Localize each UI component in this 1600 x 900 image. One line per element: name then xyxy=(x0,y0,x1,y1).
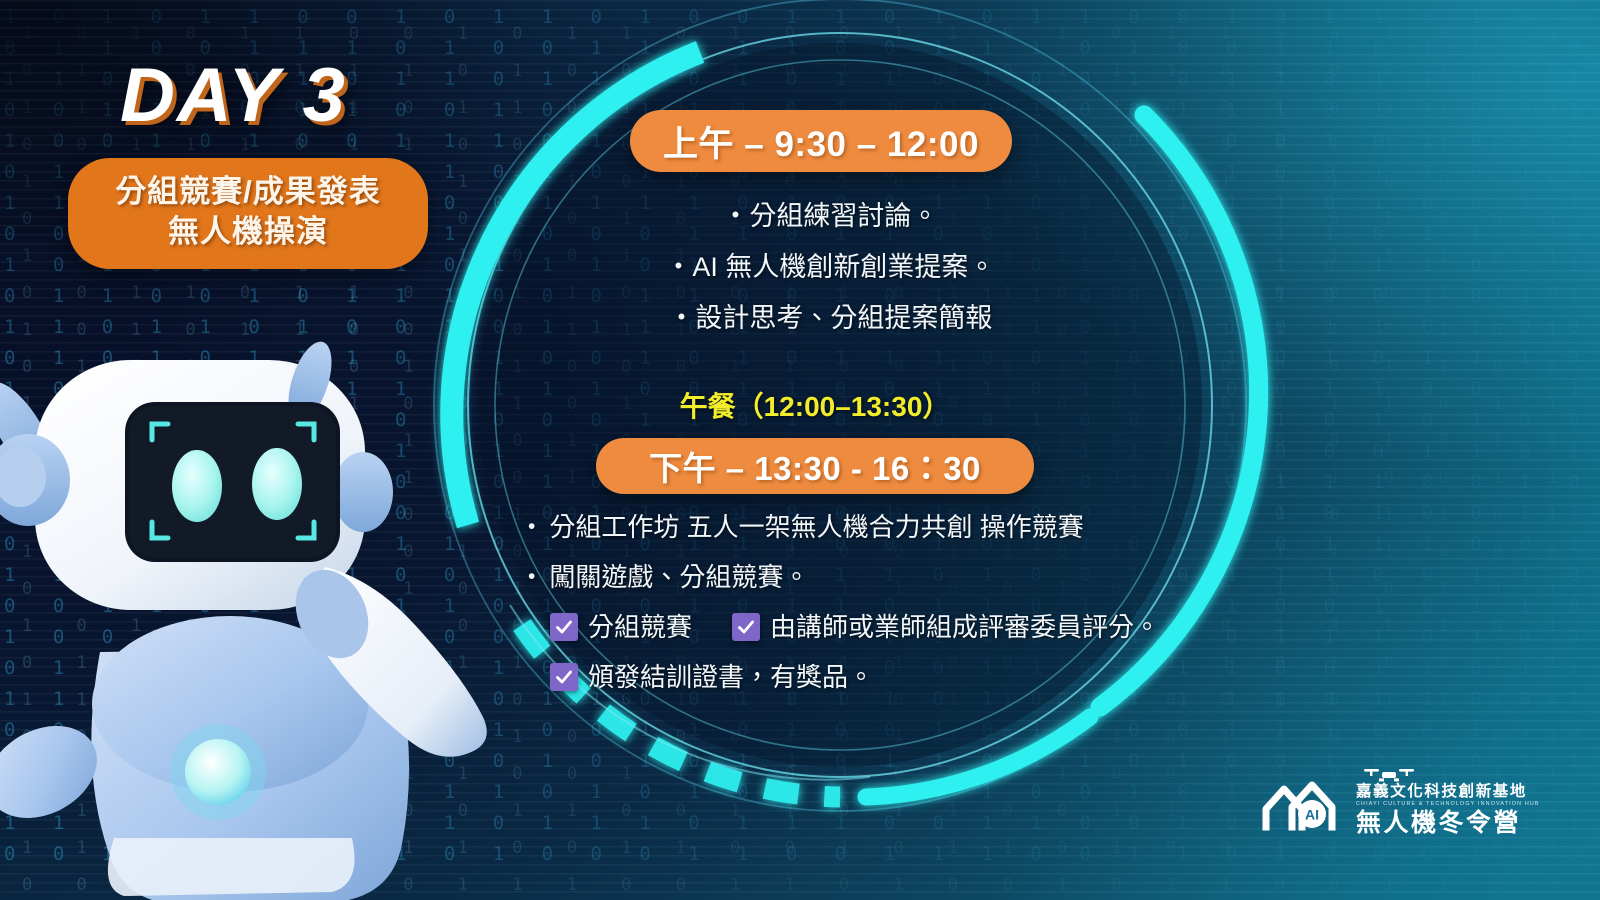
checkbox-row-1: 分組競賽 由講師或業師組成評審委員評分。 xyxy=(528,602,1168,652)
list-item-label: 分組工作坊 五人一架無人機合力共創 操作競賽 xyxy=(549,502,1083,552)
bullet-glyph: • xyxy=(528,502,535,552)
house-roof-logo-icon: AI xyxy=(1262,769,1346,835)
checkbox-checked-icon[interactable] xyxy=(550,663,578,691)
bullet-glyph: • xyxy=(675,253,683,278)
logo-english-line: CHIAYI CULTURE & TECHNOLOGY INNOVATION H… xyxy=(1356,800,1540,808)
topic-badge-line1: 分組競賽/成果發表 xyxy=(84,172,412,212)
list-item: •分組工作坊 五人一架無人機合力共創 操作競賽 xyxy=(528,502,1168,552)
morning-bullet-list: •分組練習討論。 •AI 無人機創新創業提案。 •設計思考、分組提案簡報 xyxy=(600,190,1070,343)
page-title: DAY 3 xyxy=(120,52,347,139)
afternoon-time-badge: 下午 – 13:30 - 16：30 xyxy=(596,438,1034,494)
topic-badge: 分組競賽/成果發表 無人機操演 xyxy=(68,158,428,269)
list-item: •設計思考、分組提案簡報 xyxy=(600,292,1070,343)
bullet-glyph: • xyxy=(678,304,686,329)
checkbox-row-2: 頒發結訓證書，有獎品。 xyxy=(528,652,1168,702)
organization-logo: AI 嘉義文化科技創新基地 CHIAYI CULTURE & TECHNOLOG… xyxy=(1262,752,1562,852)
topic-badge-line2: 無人機操演 xyxy=(84,212,412,252)
checkbox-label: 頒發結訓證書，有獎品。 xyxy=(588,652,874,702)
logo-text-block: 嘉義文化科技創新基地 CHIAYI CULTURE & TECHNOLOGY I… xyxy=(1356,766,1540,839)
list-item-label: 分組練習討論。 xyxy=(749,201,938,231)
checkbox-label: 由講師或業師組成評審委員評分。 xyxy=(770,602,1160,652)
slide-canvas: 1 0 1 0 1 1 0 0 1 0 1 1 0 1 0 0 1 1 0 1 … xyxy=(0,0,1600,900)
bullet-glyph: • xyxy=(528,552,535,602)
afternoon-time-label: 下午 – 13:30 - 16：30 xyxy=(649,442,981,490)
morning-time-label: 上午 – 9:30 – 12:00 xyxy=(663,116,979,167)
ai-badge-text: AI xyxy=(1305,807,1319,823)
list-item-label: AI 無人機創新創業提案。 xyxy=(692,252,995,282)
list-item: •AI 無人機創新創業提案。 xyxy=(600,241,1070,292)
checkbox-label: 分組競賽 xyxy=(588,602,692,652)
bullet-glyph: • xyxy=(732,202,740,227)
list-item: •分組練習討論。 xyxy=(600,190,1070,241)
logo-chinese-line2: 無人機冬令營 xyxy=(1356,809,1521,839)
checkbox-checked-icon[interactable] xyxy=(732,613,760,641)
morning-time-badge: 上午 – 9:30 – 12:00 xyxy=(630,110,1012,172)
logo-chinese-line1: 嘉義文化科技創新基地 xyxy=(1356,783,1527,800)
list-item: •闖關遊戲、分組競賽。 xyxy=(528,552,1168,602)
afternoon-bullet-list: •分組工作坊 五人一架無人機合力共創 操作競賽 •闖關遊戲、分組競賽。 分組競賽… xyxy=(528,502,1168,702)
robot-mascot-illustration xyxy=(0,352,500,900)
list-item-label: 設計思考、分組提案簡報 xyxy=(695,303,992,333)
lunch-label: 午餐（12:00–13:30） xyxy=(597,385,1033,425)
list-item-label: 闖關遊戲、分組競賽。 xyxy=(549,552,809,602)
checkbox-checked-icon[interactable] xyxy=(550,613,578,641)
drone-icon xyxy=(1362,766,1416,782)
